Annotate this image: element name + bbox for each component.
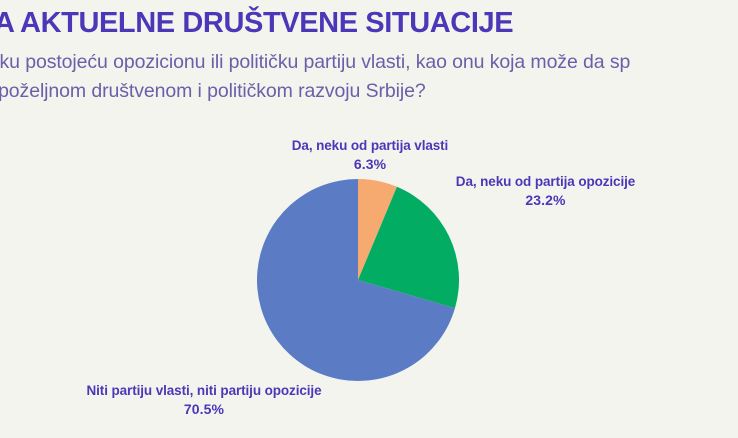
page-subtitle: neku postojeću opozicionu ili političku … (0, 48, 630, 106)
pie-graphic (257, 179, 459, 381)
subtitle-line-1: neku postojeću opozicionu ili političku … (0, 48, 630, 77)
infographic-canvas: A AKTUELNE DRUŠTVENE SITUACIJE neku post… (0, 0, 738, 438)
slice-label-vlasti: Da, neku od partija vlasti 6.3% (265, 137, 475, 173)
slice-value-niti: 70.5% (48, 400, 360, 418)
slice-value-vlasti: 6.3% (265, 155, 475, 173)
pie-svg (257, 179, 459, 381)
slice-label-opozicije: Da, neku od partija opozicije 23.2% (418, 173, 673, 209)
slice-value-opozicije: 23.2% (418, 191, 673, 209)
slice-label-opozicije-text: Da, neku od partija opozicije (456, 174, 635, 189)
slice-label-niti: Niti partiju vlasti, niti partiju opozic… (48, 382, 360, 418)
page-title: A AKTUELNE DRUŠTVENE SITUACIJE (0, 6, 513, 40)
pie-chart: Da, neku od partija vlasti 6.3% Da, neku… (0, 120, 738, 438)
slice-label-niti-text: Niti partiju vlasti, niti partiju opozic… (87, 383, 322, 398)
subtitle-line-2: o poželjnom društvenom i političkom razv… (0, 77, 630, 106)
slice-label-vlasti-text: Da, neku od partija vlasti (292, 138, 448, 153)
header: A AKTUELNE DRUŠTVENE SITUACIJE neku post… (0, 0, 738, 120)
